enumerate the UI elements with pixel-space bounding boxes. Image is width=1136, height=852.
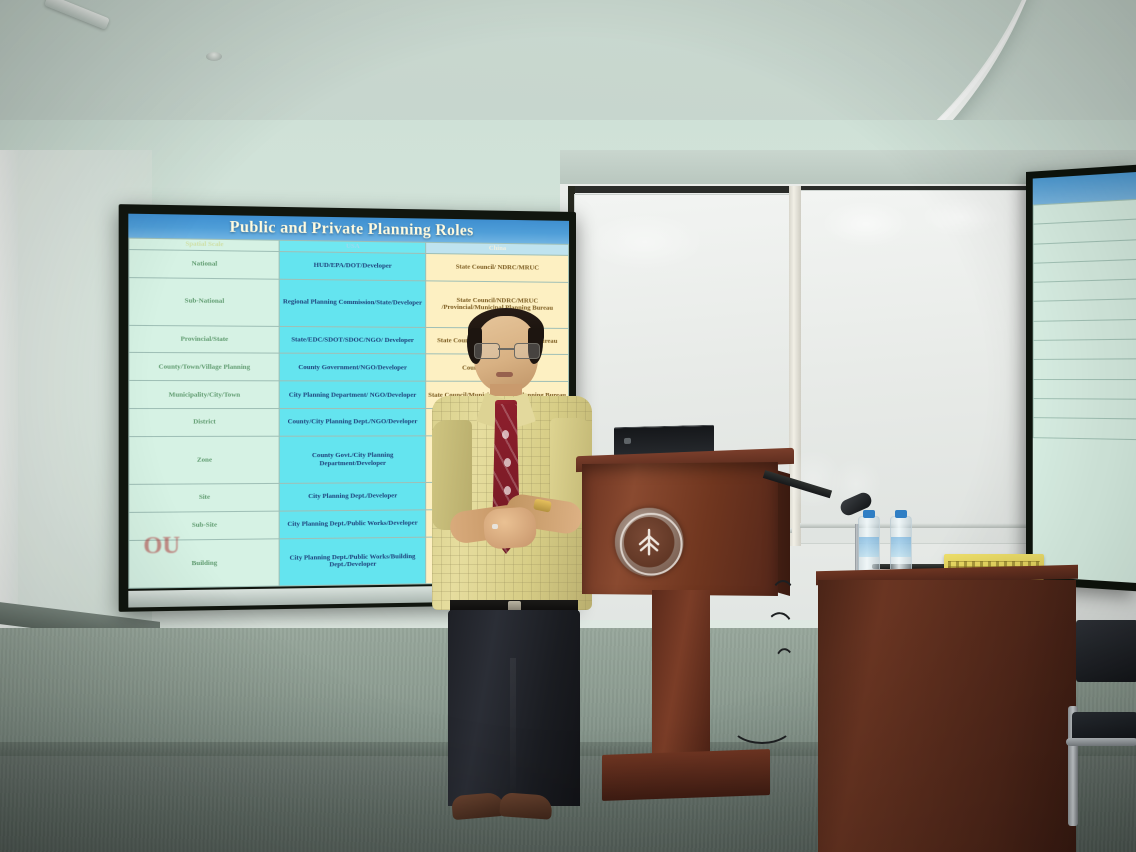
trouser-crease <box>510 658 516 806</box>
cell-usa: State/EDC/SDOT/SDOC/NGO/ Developer <box>279 326 426 354</box>
smoke-detector <box>206 52 222 61</box>
secondary-table-row: Zon <box>1033 358 1136 380</box>
glasses-lens <box>474 343 500 359</box>
lectern-column <box>652 590 710 760</box>
presenter-shoe-left <box>451 792 505 820</box>
cell-usa: City Planning Dept./Developer <box>279 483 426 512</box>
secondary-table-body: Spatial SNationSub-NatiProvincialCounty/… <box>1033 186 1136 444</box>
cell-usa: County Govt./City Planning Department/De… <box>279 436 426 484</box>
lecture-hall-photo: Public and Private Planning Roles Spatia… <box>0 0 1136 852</box>
cell-spatial-scale: Provincial/State <box>129 325 279 354</box>
secondary-cell-spatial-scale: Build <box>1033 418 1136 444</box>
cell-china: State Council/ NDRC/MRUC <box>426 253 569 282</box>
cell-usa: HUD/EPA/DOT/Developer <box>279 251 426 280</box>
bottle-label <box>891 537 911 557</box>
lectern-front-panel <box>582 462 778 596</box>
water-bottle <box>858 516 880 576</box>
necktie-motif <box>504 486 511 495</box>
secondary-planning-table: Spatial SNationSub-NatiProvincialCounty/… <box>1033 185 1136 444</box>
bottle-cap <box>863 510 875 518</box>
secondary-table-row: Site <box>1033 379 1136 401</box>
peking-university-seal <box>615 508 684 577</box>
cell-usa: Regional Planning Commission/State/Devel… <box>279 279 426 327</box>
glasses-lens <box>514 343 540 359</box>
cell-spatial-scale: District <box>129 409 279 437</box>
left-wall-edge <box>0 150 18 650</box>
secondary-cell-spatial-scale: Site <box>1033 379 1136 401</box>
cell-usa: City Planning Department/ NGO/Developer <box>279 381 426 409</box>
side-table <box>816 568 1078 852</box>
glasses-bridge <box>498 348 514 350</box>
bottle-label <box>859 537 879 557</box>
cable <box>730 700 794 744</box>
cell-usa: City Planning Dept./Public Works/Buildin… <box>279 537 426 586</box>
water-bottle <box>890 516 912 576</box>
secondary-table-row: Build <box>1033 418 1136 444</box>
seal-emblem-icon <box>632 525 666 559</box>
cell-usa: City Planning Dept./Public Works/Develop… <box>279 510 426 539</box>
table-front-panel <box>818 580 1076 852</box>
bottle-cap <box>895 510 907 518</box>
secondary-table-row: Distri <box>1033 336 1136 360</box>
chair-frame-rail <box>1066 738 1136 746</box>
presenter <box>424 312 600 820</box>
whiteboard-rail <box>800 523 1030 528</box>
lectern-base <box>602 749 770 801</box>
secondary-cell-spatial-scale: Distri <box>1033 336 1136 360</box>
secondary-cell-spatial-scale: Zon <box>1033 358 1136 380</box>
secondary-projection-screen: Spatial SNationSub-NatiProvincialCounty/… <box>1026 165 1136 592</box>
finger-ring <box>492 524 498 529</box>
whiteboard-glare <box>585 213 705 271</box>
presenter-hands-clasped <box>483 506 538 550</box>
secondary-screen-surface: Spatial SNationSub-NatiProvincialCounty/… <box>1033 172 1136 583</box>
cell-spatial-scale: Zone <box>129 436 279 484</box>
cell-spatial-scale: Municipality/City/Town <box>129 381 279 409</box>
laptop-hinge-detail <box>624 438 631 444</box>
necktie-motif <box>502 430 509 439</box>
cell-usa: County Government/NGO/Developer <box>279 354 426 382</box>
necktie-motif <box>504 458 511 467</box>
chair <box>1072 660 1136 852</box>
cell-spatial-scale: National <box>129 249 279 279</box>
cell-spatial-scale: Sub-National <box>129 277 279 326</box>
ou-watermark-logo: OU <box>143 530 171 561</box>
presenter-mouth <box>496 372 513 377</box>
whiteboard-glare <box>821 201 911 247</box>
whiteboard-glare <box>921 197 1001 237</box>
cell-spatial-scale: County/Town/Village Planning <box>129 353 279 381</box>
presenter-glasses <box>474 343 538 358</box>
cell-usa: County/City Planning Dept./NGO/Developer <box>279 409 426 437</box>
cell-spatial-scale: Site <box>129 484 279 513</box>
chair-backrest <box>1076 620 1136 682</box>
whiteboard-panel-right <box>800 190 1030 544</box>
